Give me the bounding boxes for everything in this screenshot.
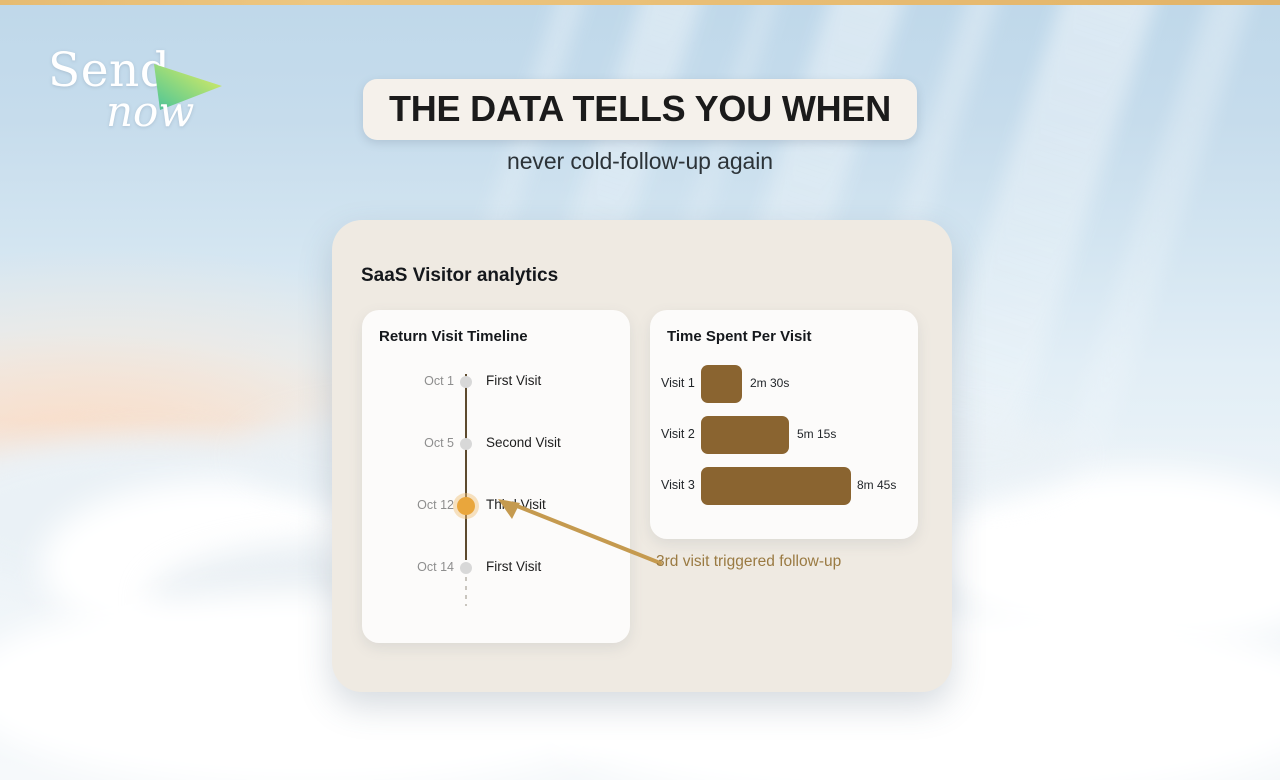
return-visit-timeline-card: Return Visit Timeline Oct 1 First Visit …: [362, 310, 630, 643]
top-accent-bar: [0, 0, 1280, 5]
timeline-dot-icon: [460, 376, 472, 388]
bar-category-label: Visit 3: [661, 478, 695, 492]
timeline-label: Second Visit: [486, 435, 561, 450]
annotation-text: 3rd visit triggered follow-up: [656, 551, 886, 574]
bar-category-label: Visit 2: [661, 427, 695, 441]
timeline-dot-icon: [460, 562, 472, 574]
bar-visit-1[interactable]: [701, 365, 742, 403]
bar-visit-2[interactable]: [701, 416, 789, 454]
bar-value-label: 2m 30s: [750, 376, 789, 390]
headline-container: THE DATA TELLS YOU WHEN: [0, 79, 1280, 140]
page-subtitle: never cold-follow-up again: [0, 148, 1280, 175]
bar-value-label: 5m 15s: [797, 427, 836, 441]
timeline-row[interactable]: Oct 1 First Visit: [362, 372, 630, 392]
timeline-card-title: Return Visit Timeline: [379, 328, 528, 345]
bar-category-label: Visit 1: [661, 376, 695, 390]
timeline-row[interactable]: Oct 5 Second Visit: [362, 434, 630, 454]
timeline-dot-icon: [460, 438, 472, 450]
annotation-arrow-icon: [492, 495, 667, 575]
timeline-date: Oct 1: [384, 374, 454, 388]
analytics-panel: SaaS Visitor analytics Return Visit Time…: [332, 220, 952, 692]
timeline-date: Oct 14: [384, 560, 454, 574]
bars-card-title: Time Spent Per Visit: [667, 328, 812, 345]
bar-visit-3[interactable]: [701, 467, 851, 505]
page-title: THE DATA TELLS YOU WHEN: [363, 79, 917, 140]
bar-value-label: 8m 45s: [857, 478, 896, 492]
bar-row[interactable]: Visit 2 5m 15s: [650, 416, 918, 454]
time-spent-per-visit-card: Time Spent Per Visit Visit 1 2m 30s Visi…: [650, 310, 918, 539]
bar-row[interactable]: Visit 1 2m 30s: [650, 365, 918, 403]
panel-title: SaaS Visitor analytics: [361, 265, 558, 287]
timeline-dot-active-icon: [457, 497, 475, 515]
timeline-date: Oct 12: [384, 498, 454, 512]
bar-row[interactable]: Visit 3 8m 45s: [650, 467, 918, 505]
timeline-axis-line: [465, 374, 467, 560]
timeline-label: First Visit: [486, 373, 541, 388]
timeline-date: Oct 5: [384, 436, 454, 450]
